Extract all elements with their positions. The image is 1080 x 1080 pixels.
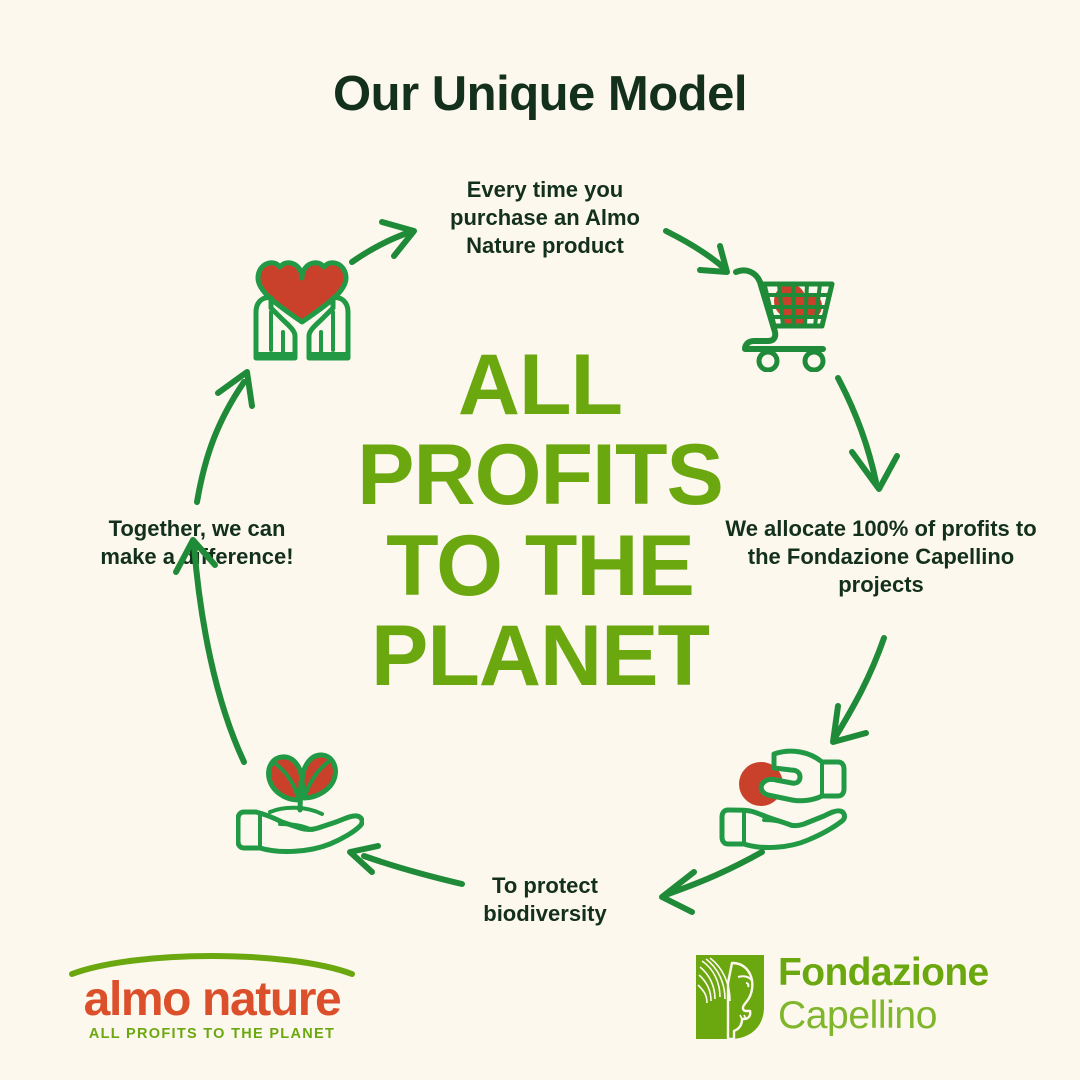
hands-holding-heart-icon [243,250,361,366]
center-slogan: ALL PROFITS TO THE PLANET [300,340,780,701]
arrow-cart-to-allocate [838,378,897,489]
slogan-line-1: ALL [300,340,780,430]
almo-wordmark: almo nature [66,972,358,1027]
fondazione-line-2: Capellino [778,995,1040,1038]
arrow-together-to-heart [197,372,252,502]
infographic-canvas: Our Unique Model ALL PROFITS TO THE PLAN… [0,0,1080,1080]
arrow-sprout-to-heart [176,540,244,762]
arrow-heart-to-purchase [352,222,414,262]
step-caption-biodiversity: To protect biodiversity [440,872,650,928]
hand-giving-coin-icon [718,738,850,850]
fondazione-wordmark: Fondazione Capellino [778,951,1040,1038]
page-title: Our Unique Model [0,66,1080,122]
slogan-line-3: TO THE [300,521,780,611]
slogan-line-2: PROFITS [300,430,780,520]
arrow-allocate-to-giving [833,638,884,742]
fondazione-capellino-logo: Fondazione Capellino [694,953,1039,1043]
hand-with-sprout-icon [236,738,364,854]
fondazione-face-mark-icon [694,953,766,1041]
shopping-cart-icon [728,258,844,372]
step-caption-allocate: We allocate 100% of profits to the Fonda… [722,515,1040,599]
slogan-line-4: PLANET [300,611,780,701]
step-caption-purchase: Every time you purchase an Almo Nature p… [420,176,670,260]
step-caption-together: Together, we can make a difference! [88,515,306,571]
almo-nature-logo: almo nature ALL PROFITS TO THE PLANET [66,952,358,1048]
fondazione-line-1: Fondazione [778,951,1040,995]
arrow-purchase-to-cart [666,231,727,272]
almo-tagline: ALL PROFITS TO THE PLANET [66,1026,358,1042]
arrow-giving-to-biodiversity [662,852,762,912]
